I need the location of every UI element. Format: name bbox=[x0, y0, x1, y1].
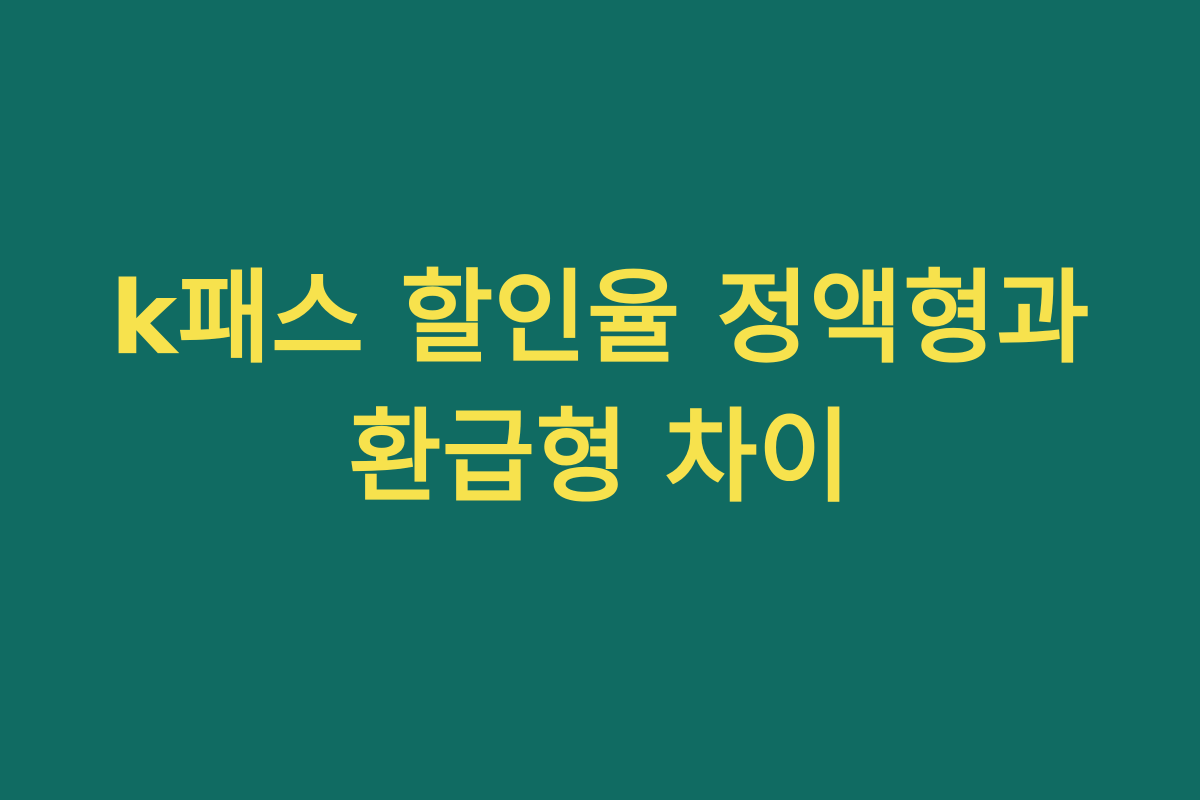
headline-block: k패스 할인율 정액형과 환급형 차이 bbox=[0, 249, 1200, 528]
headline-line-1: k패스 할인율 정액형과 bbox=[40, 249, 1160, 388]
headline-line-2: 환급형 차이 bbox=[40, 388, 1160, 527]
banner-canvas: k패스 할인율 정액형과 환급형 차이 bbox=[0, 0, 1200, 800]
